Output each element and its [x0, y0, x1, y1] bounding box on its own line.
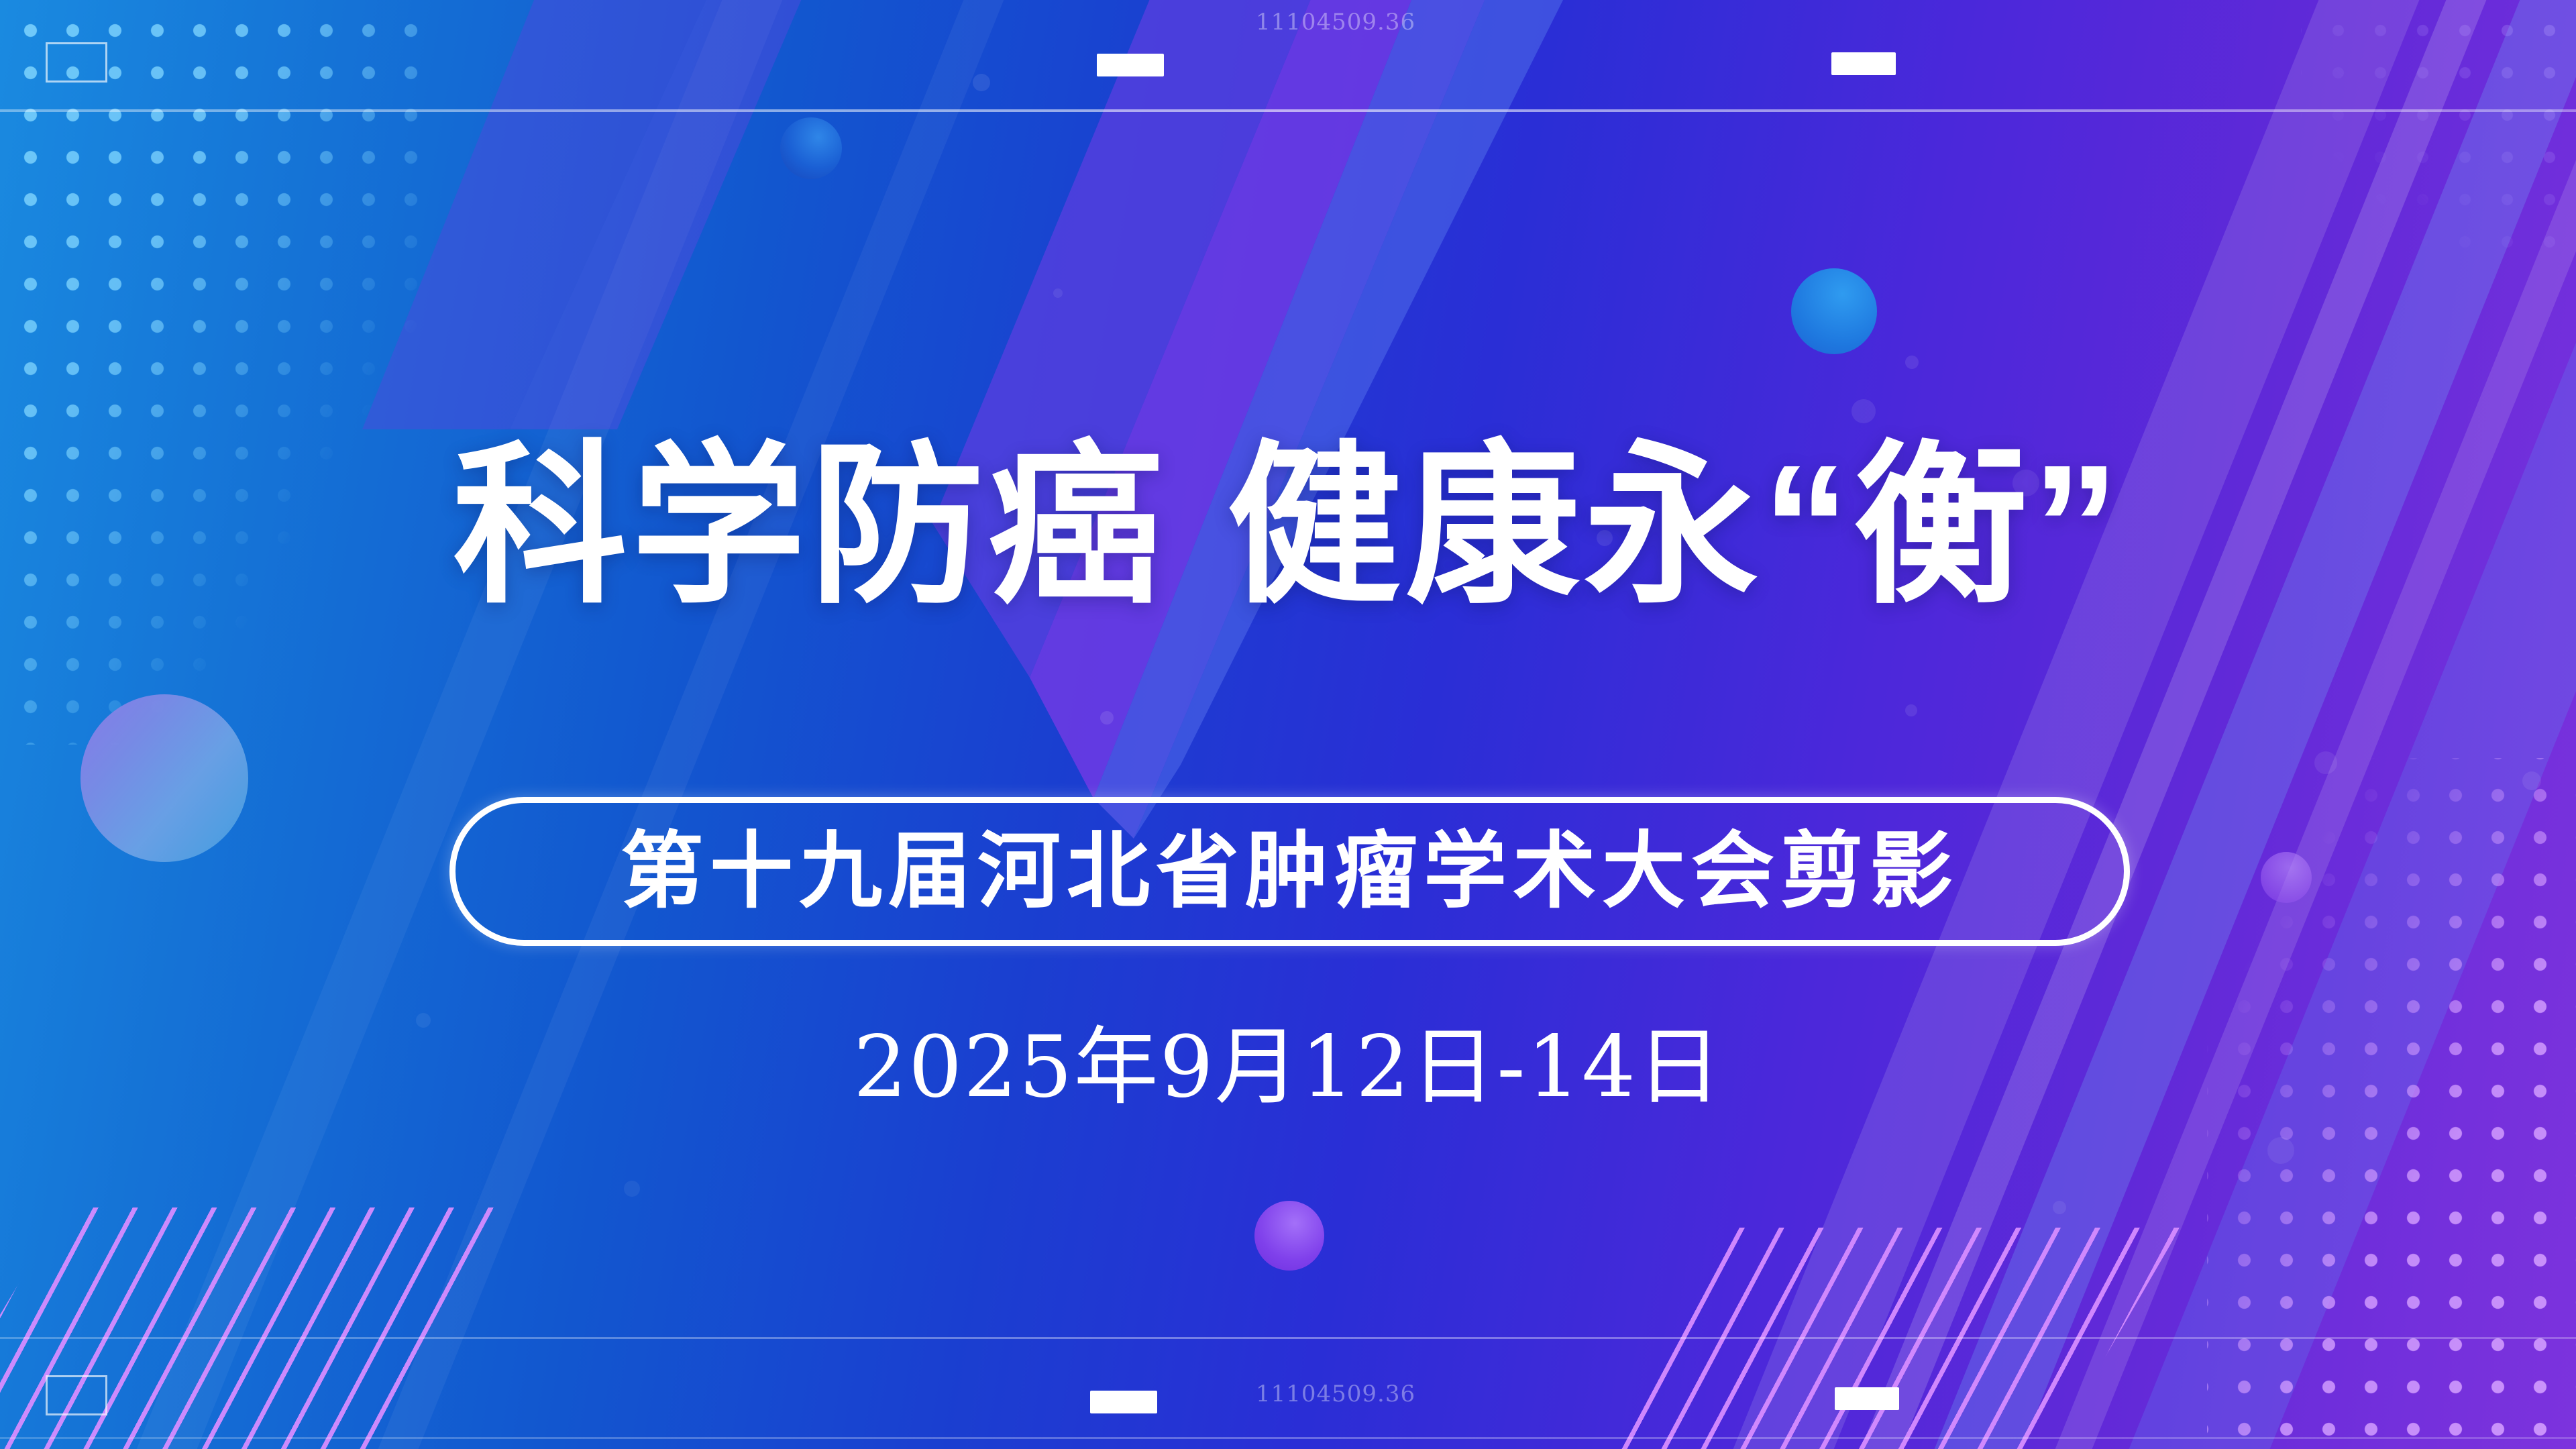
page-title: 科学防癌健康永“衡” — [0, 439, 2576, 614]
poster-canvas: 11104509.36 11104509.36 科学防癌健康永“衡” 第十九届河… — [0, 0, 2576, 1449]
headline-part-right: 健康永“衡” — [1227, 429, 2123, 624]
subtitle-text: 第十九届河北省肿瘤学术大会剪影 — [621, 830, 1959, 913]
headline-part-left: 科学防癌 — [453, 429, 1167, 624]
subtitle-pill: 第十九届河北省肿瘤学术大会剪影 — [449, 797, 2130, 946]
poster-content: 科学防癌健康永“衡” 第十九届河北省肿瘤学术大会剪影 2025年9月12日-14… — [0, 0, 2576, 1449]
date-range: 2025年9月12日-14日 — [0, 1025, 2576, 1110]
